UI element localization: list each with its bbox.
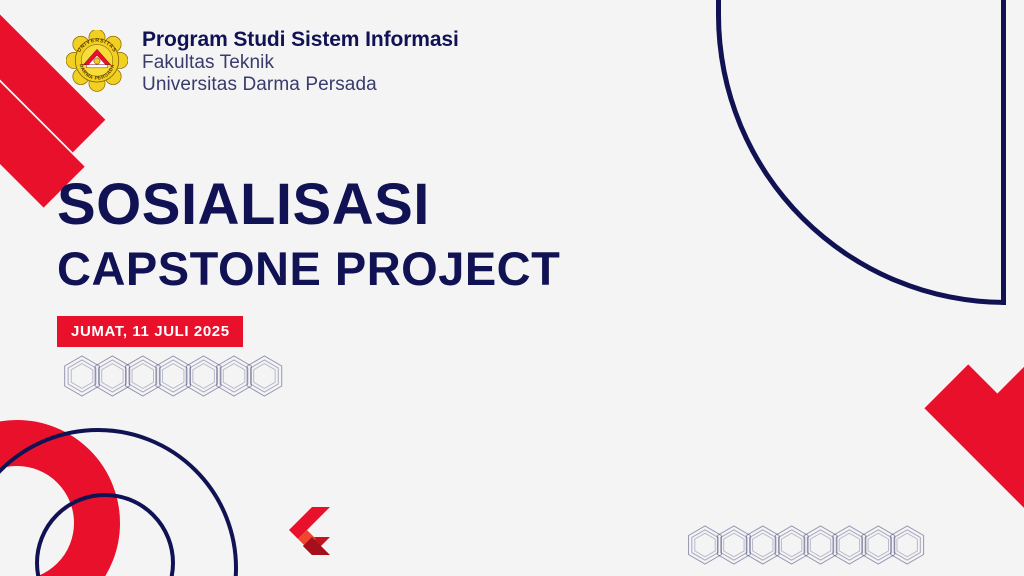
red-quarter-circle-clip (690, 0, 1024, 280)
flutter-logo-icon (277, 506, 335, 568)
title-block: SOSIALISASI CAPSTONE PROJECT JUMAT, 11 J… (57, 176, 560, 347)
navy-circle-small-bottom-left (35, 493, 175, 576)
date-badge: JUMAT, 11 JULI 2025 (57, 316, 243, 347)
institution-text-block: Program Studi Sistem Informasi Fakultas … (142, 28, 459, 96)
hexagon-chain-left (60, 352, 300, 404)
navy-quarter-frame-top-right (716, 0, 1006, 305)
red-diagonal-stripe-bottom-right (924, 364, 1024, 576)
universitas-darma-persada-emblem-icon: UNIVERSITAS DARMA PERSADA (66, 30, 128, 92)
hexagon-chain-bottom-right (684, 522, 936, 572)
universitas-label: Universitas Darma Persada (142, 74, 459, 96)
page-subtitle: CAPSTONE PROJECT (57, 245, 560, 292)
fakultas-label: Fakultas Teknik (142, 52, 459, 74)
program-studi-label: Program Studi Sistem Informasi (142, 28, 459, 52)
navy-circle-large-bottom-left (0, 428, 238, 576)
red-diagonal-stripe-bottom-right-inner (997, 362, 1024, 576)
red-ring-bottom-left (0, 420, 120, 576)
institution-header: UNIVERSITAS DARMA PERSADA Program Studi … (66, 28, 459, 96)
title-slide: UNIVERSITAS DARMA PERSADA Program Studi … (0, 0, 1024, 576)
page-title: SOSIALISASI (57, 176, 560, 234)
